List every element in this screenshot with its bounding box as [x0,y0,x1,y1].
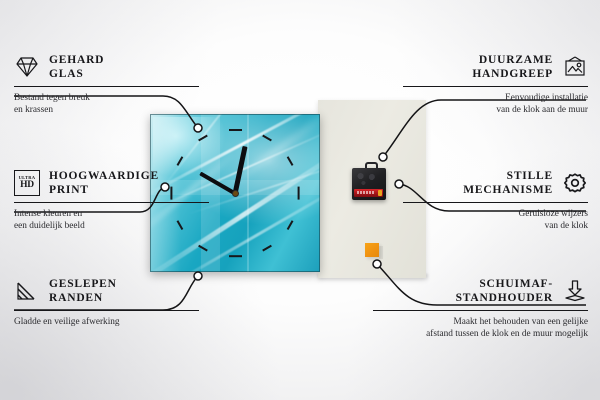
callout-description: Maakt het behouden van een gelijke afsta… [373,316,588,341]
callout-description: Gladde en veilige afwerking [14,316,199,328]
callout-header: GEHARD GLAS [14,53,199,82]
callout-rule [403,202,588,203]
callout-rule [373,310,588,311]
gear-icon [562,171,588,195]
callout-description: Intense kleuren en een duidelijk beeld [14,208,209,233]
callout-description: Eenvoudige installatie van de klok aan d… [403,92,588,117]
callout-description: Geruisloze wijzers van de klok [403,208,588,233]
infographic-canvas: GEHARD GLAS Bestand tegen breuk en krass… [0,0,600,400]
callout-rule [14,86,199,87]
callout-title: SCHUIMAF- STANDHOUDER [373,277,553,306]
callout-header: ultra HD HOOGWAARDIGE PRINT [14,169,209,198]
callout-stille-mechanisme: STILLE MECHANISME Geruisloze wijzers van… [403,169,588,233]
callout-hoogwaardige-print: ultra HD HOOGWAARDIGE PRINT Intense kleu… [14,169,209,233]
callout-title: DUURZAME HANDGREEP [403,53,553,82]
diamond-icon [14,55,40,79]
callout-header: DUURZAME HANDGREEP [403,53,588,82]
callout-header: SCHUIMAF- STANDHOUDER [373,277,588,306]
callout-description: Bestand tegen breuk en krassen [14,92,199,117]
callout-rule [403,86,588,87]
callout-title: GEHARD GLAS [49,53,199,82]
callout-title: HOOGWAARDIGE PRINT [49,169,209,198]
callout-rule [14,202,209,203]
ultra-hd-icon: ultra HD [14,170,40,196]
foam-spacer-side [379,246,383,259]
callout-title: STILLE MECHANISME [403,169,553,198]
callout-duurzame-handgreep: DUURZAME HANDGREEP Eenvoudige installati… [403,53,588,117]
callout-title: GESLEPEN RANDEN [49,277,199,306]
press-down-icon [562,279,588,303]
callout-rule [14,310,199,311]
picture-frame-icon [562,55,588,79]
callout-gehard-glas: GEHARD GLAS Bestand tegen breuk en krass… [14,53,199,117]
foam-spacer [365,243,379,257]
beveled-edges-icon [14,279,40,303]
callout-header: GESLEPEN RANDEN [14,277,199,306]
callout-schuimaf-standhouder: SCHUIMAF- STANDHOUDER Maakt het behouden… [373,277,588,341]
callout-geslepen-randen: GESLEPEN RANDEN Gladde en veilige afwerk… [14,277,199,328]
callout-header: STILLE MECHANISME [403,169,588,198]
clock-battery [354,189,383,197]
